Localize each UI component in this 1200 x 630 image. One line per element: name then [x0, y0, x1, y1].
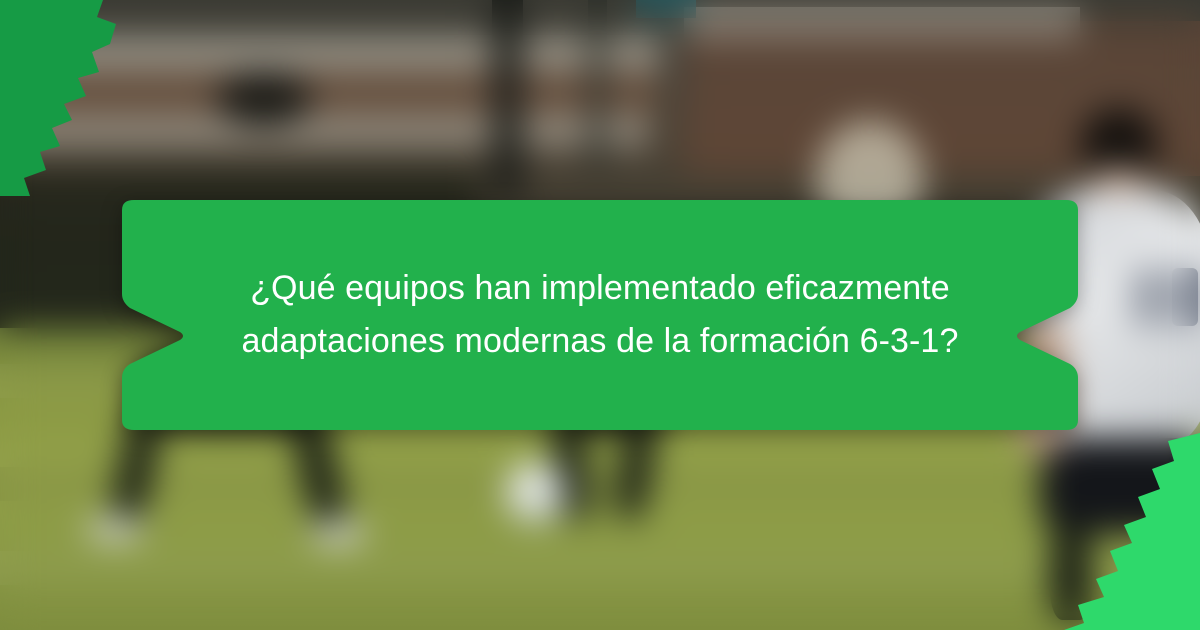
banner-line-2: adaptaciones modernas de la formación 6-… — [242, 322, 959, 361]
ribbon-banner: ¿Qué equipos han implementado eficazment… — [108, 198, 1092, 432]
banner-line-1: ¿Qué equipos han implementado eficazment… — [250, 269, 950, 308]
banner-text-block: ¿Qué equipos han implementado eficazment… — [108, 198, 1092, 432]
social-card: ¿Qué equipos han implementado eficazment… — [0, 0, 1200, 630]
